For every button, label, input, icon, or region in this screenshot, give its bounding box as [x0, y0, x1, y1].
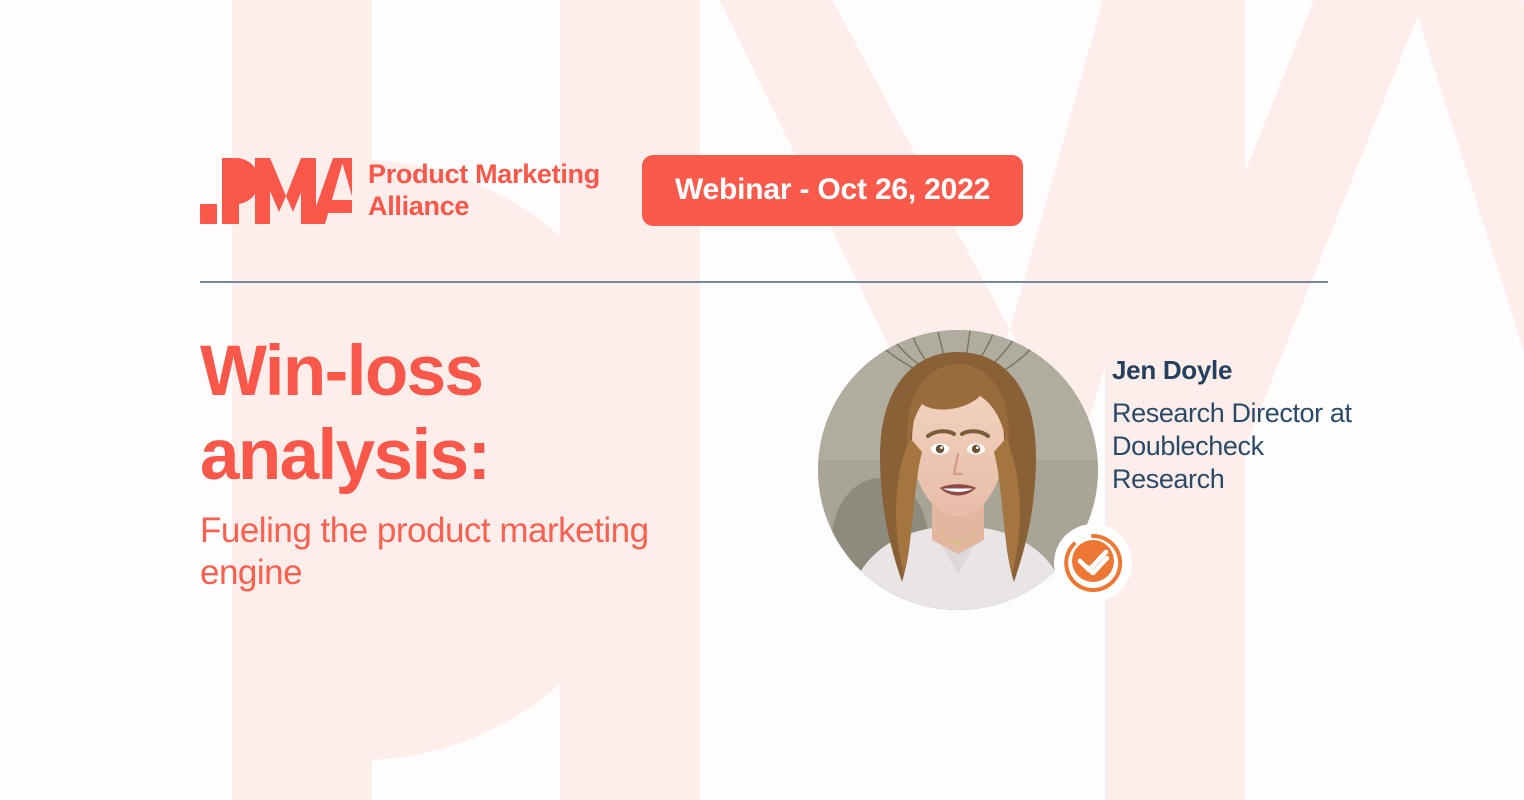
slide-content: Product Marketing Alliance Webinar - Oct… — [0, 0, 1524, 800]
speaker-details: Jen Doyle Research Director at Doubleche… — [1112, 355, 1392, 496]
speaker-role: Research Director at Doublecheck Researc… — [1112, 397, 1392, 496]
webinar-promo-slide: Product Marketing Alliance Webinar - Oct… — [0, 0, 1524, 800]
talk-subtitle: Fueling the product marketing engine — [200, 510, 820, 595]
talk-title: Win-loss analysis: — [200, 330, 820, 498]
title-block: Win-loss analysis: Fueling the product m… — [200, 330, 820, 595]
pma-monogram-icon — [200, 156, 352, 226]
pma-wordmark: Product Marketing Alliance — [368, 159, 600, 222]
slide-header: Product Marketing Alliance Webinar - Oct… — [200, 155, 1023, 226]
webinar-date-badge: Webinar - Oct 26, 2022 — [642, 155, 1023, 226]
doublecheck-logo — [1054, 524, 1132, 602]
pma-logo: Product Marketing Alliance — [200, 156, 600, 226]
double-check-icon — [1060, 530, 1126, 596]
header-divider — [200, 281, 1328, 283]
speaker-name: Jen Doyle — [1112, 355, 1392, 386]
speaker-portrait — [818, 330, 1098, 610]
